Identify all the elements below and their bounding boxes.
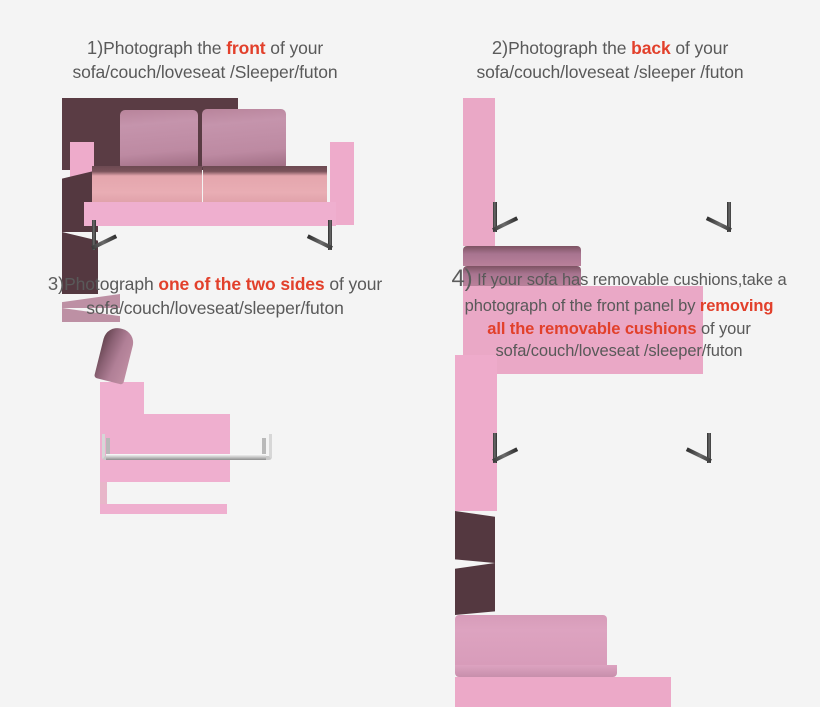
step-2-line1-pre: Photograph the (508, 38, 631, 58)
step-3-line1-post: of your (325, 274, 383, 294)
step-3-line1-pre: Photograph (64, 274, 158, 294)
step-2-line1-post: of your (671, 38, 729, 58)
step-2-caption: 2)Photograph the back of your sofa/couch… (415, 36, 805, 84)
step-4-line1-text: If your sofa has removable cushions,take… (477, 271, 786, 289)
side-chrome-base (106, 438, 266, 460)
nocush-panel-edge (455, 665, 617, 677)
sofa-front-view (62, 98, 362, 243)
sofa-no-cushions-view (455, 355, 755, 475)
step-1-line-1: 1)Photograph the front of your (10, 36, 400, 61)
front-leg-left (90, 220, 120, 254)
step-4-highlight-cushions: all the removable cushions (487, 320, 696, 338)
step-4-line-2: photograph of the front panel by removin… (424, 295, 814, 317)
step-4-highlight-removing: removing (700, 297, 773, 315)
step-4-line2-pre: photograph of the front panel by (465, 297, 700, 315)
back-left-side-panel (463, 98, 495, 172)
front-base-skirt (84, 202, 336, 226)
step-1-highlight: front (226, 38, 265, 58)
side-backrest-block (100, 382, 144, 414)
step-2-highlight: back (631, 38, 671, 58)
front-seat-cushion-left (92, 166, 202, 204)
nocush-front-panel (455, 615, 607, 665)
front-back-cushion-left (120, 110, 198, 168)
back-leg-left (491, 202, 521, 236)
nocush-leg-right (683, 433, 713, 467)
side-back-cushion (94, 325, 136, 385)
nocush-right-arm-interior (455, 563, 495, 615)
step-4-caption: 4) If your sofa has removable cushions,t… (424, 263, 814, 362)
step-3-highlight: one of the two sides (158, 274, 324, 294)
step-3-line-2: sofa/couch/loveseat/sleeper/futon (0, 297, 430, 320)
step-2-number: 2) (492, 37, 508, 58)
step-1-line-2: sofa/couch/loveseat /Sleeper/futon (10, 61, 400, 84)
nocush-left-arm-interior (455, 511, 495, 563)
nocush-leg-left (491, 433, 521, 467)
nocush-left-outer-panel (455, 355, 497, 433)
step-3-caption: 3)Photograph one of the two sides of you… (0, 272, 430, 320)
nocush-seat-deck (455, 677, 671, 707)
step-2-line-2: sofa/couch/loveseat /sleeper /futon (415, 61, 805, 84)
instruction-sheet: 1)Photograph the front of your sofa/couc… (0, 0, 820, 475)
back-leg-right (703, 202, 733, 236)
front-seat-cushion-right (203, 166, 327, 204)
step-4-number: 4) (451, 265, 472, 292)
sofa-side-view (100, 328, 290, 473)
step-2-line-1: 2)Photograph the back of your (415, 36, 805, 61)
step-3-number: 3) (48, 273, 64, 294)
side-seam-tab (100, 482, 107, 504)
front-leg-right (304, 220, 334, 254)
side-base-skirt (100, 504, 227, 514)
step-1-caption: 1)Photograph the front of your sofa/couc… (10, 36, 400, 84)
sofa-back-view (463, 98, 763, 243)
step-1-number: 1) (87, 37, 103, 58)
step-4-line-1: 4) If your sofa has removable cushions,t… (424, 263, 814, 295)
step-1-line1-post: of your (266, 38, 324, 58)
front-back-cushion-right (202, 109, 286, 168)
step-1-line1-pre: Photograph the (103, 38, 226, 58)
step-3-line-1: 3)Photograph one of the two sides of you… (0, 272, 430, 297)
step-4-line-3: all the removable cushions of your (424, 318, 814, 340)
step-4-line3-post: of your (696, 320, 750, 338)
